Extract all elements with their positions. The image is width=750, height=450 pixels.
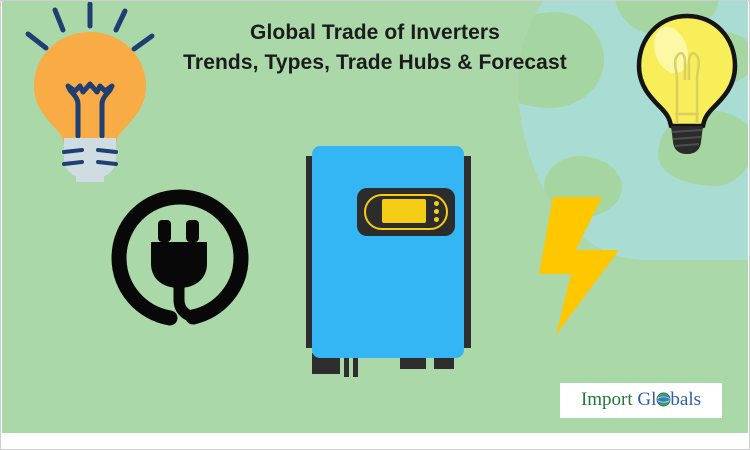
power-plug-icon — [110, 188, 250, 328]
inverter-status-led — [434, 209, 439, 214]
solar-inverter-icon — [290, 134, 486, 380]
logo-word-import: Import — [581, 389, 633, 410]
inverter-display-screen — [382, 199, 426, 223]
logo-word-gl: Gl — [637, 389, 656, 410]
logo-word-bals: bals — [670, 389, 701, 410]
globe-icon — [656, 392, 671, 411]
logo-text: Import Glbals — [581, 390, 701, 411]
banner-title: Global Trade of Inverters Trends, Types,… — [2, 18, 748, 78]
artwork-panel: Global Trade of Inverters Trends, Types,… — [2, 0, 748, 433]
inverter-body — [312, 146, 464, 358]
lightning-bolt-icon — [538, 192, 634, 340]
title-line-2: Trends, Types, Trade Hubs & Forecast — [2, 48, 748, 78]
inverter-status-led — [434, 201, 439, 206]
inverter-trade-banner: Global Trade of Inverters Trends, Types,… — [0, 0, 750, 450]
import-globals-logo[interactable]: Import Glbals — [560, 383, 722, 418]
inverter-status-led — [434, 217, 439, 222]
title-line-1: Global Trade of Inverters — [2, 18, 748, 48]
inverter-display-panel — [357, 188, 455, 236]
